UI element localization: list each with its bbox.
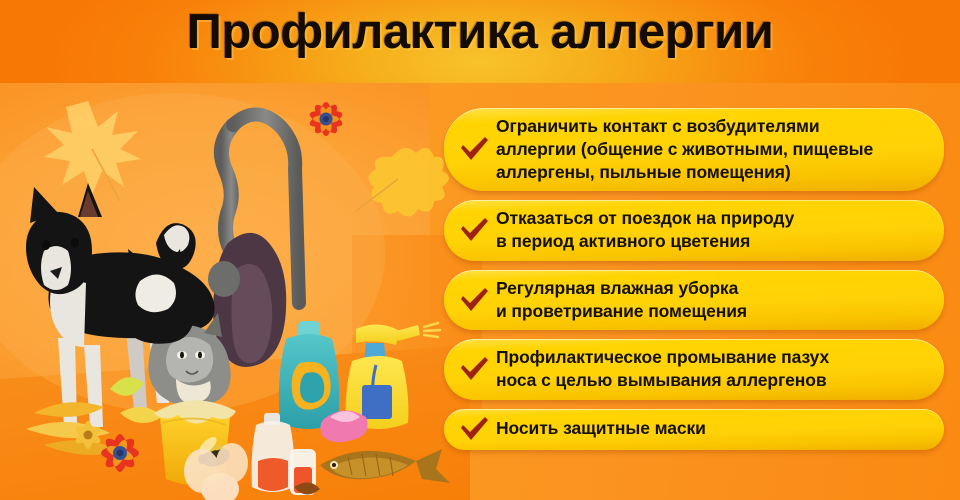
medicine-bottle — [252, 413, 295, 492]
checklist-line: Отказаться от поездок на природу — [496, 207, 920, 230]
spray-mist — [424, 323, 440, 337]
checklist-item-nasal-rinsing[interactable]: Профилактическое промывание пазух носа с… — [444, 339, 944, 400]
checklist-item-limit-contact[interactable]: Ограничить контакт с возбудителями аллер… — [444, 108, 944, 191]
checklist-line: Ограничить контакт с возбудителями — [496, 115, 920, 138]
prevention-checklist: Ограничить контакт с возбудителями аллер… — [444, 108, 944, 459]
checklist-item-avoid-nature-trips[interactable]: Отказаться от поездок на природу в перио… — [444, 200, 944, 261]
checklist-line: и проветривание помещения — [496, 300, 920, 323]
checklist-line: в период активного цветения — [496, 230, 920, 253]
check-mark-icon — [456, 217, 492, 243]
checklist-line: Носить защитные маски — [496, 417, 920, 440]
page-title: Профилактика аллергии — [0, 4, 960, 60]
header-band: Профилактика аллергии — [0, 0, 960, 83]
checklist-item-text: Ограничить контакт с возбудителями аллер… — [496, 115, 920, 183]
checklist-line: аллергены, пыльные помещения) — [496, 161, 920, 184]
checklist-item-text: Носить защитные маски — [496, 417, 920, 440]
checklist-line: Профилактическое промывание пазух — [496, 346, 920, 369]
checklist-item-wet-cleaning[interactable]: Регулярная влажная уборка и проветривани… — [444, 270, 944, 331]
check-mark-icon — [456, 287, 492, 313]
red-flower-icon — [308, 102, 344, 137]
spray-bottle — [346, 323, 440, 429]
checklist-item-text: Регулярная влажная уборка и проветривани… — [496, 277, 920, 323]
allergy-prevention-infographic: Профилактика аллергии Ограничить контакт… — [0, 0, 960, 500]
check-mark-icon — [456, 356, 492, 382]
allergen-illustration — [0, 83, 460, 500]
fish-illustration — [320, 449, 450, 483]
check-mark-icon — [456, 136, 492, 162]
checklist-item-text: Профилактическое промывание пазух носа с… — [496, 346, 920, 392]
checklist-line: носа с целью вымывания аллергенов — [496, 369, 920, 392]
checklist-item-wear-masks[interactable]: Носить защитные маски — [444, 409, 944, 450]
check-mark-icon — [456, 416, 492, 442]
checklist-item-text: Отказаться от поездок на природу в перио… — [496, 207, 920, 253]
checklist-line: аллергии (общение с животными, пищевые — [496, 138, 920, 161]
checklist-line: Регулярная влажная уборка — [496, 277, 920, 300]
